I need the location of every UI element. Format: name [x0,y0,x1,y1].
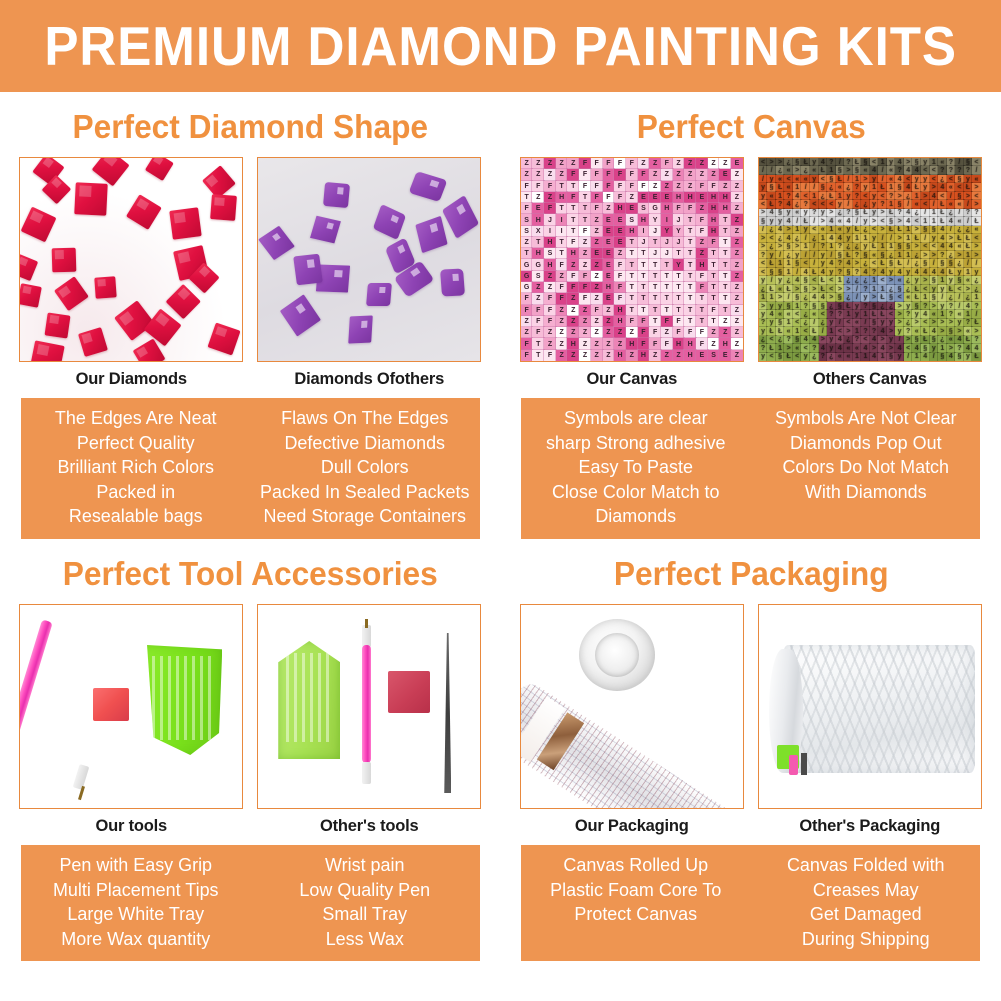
canvas-symbol-cell: / [921,234,930,242]
canvas-symbol-cell: H [708,203,720,214]
canvas-symbol-cell: y [810,175,819,183]
canvas-symbol-cell: E [603,214,615,225]
foam-core-cap-inner-icon [595,633,639,677]
canvas-symbol-cell: ? [947,158,956,166]
canvas-symbol-cell: Z [521,327,533,338]
canvas-symbol-cell: ¿ [861,276,870,284]
infographic-page: PREMIUM DIAMOND PAINTING KITS Perfect Di… [0,0,1001,1001]
canvas-symbol-cell: Z [556,158,568,169]
canvas-symbol-cell: T [684,271,696,282]
canvas-symbol-cell: T [638,305,650,316]
canvas-symbol-cell: 4 [912,166,921,174]
canvas-symbol-cell: Z [521,158,533,169]
canvas-symbol-cell: S [532,271,544,282]
canvas-symbol-cell: / [767,166,776,174]
canvas-symbol-cell: ? [870,327,879,335]
pen-metal-tip-icon [362,625,371,647]
canvas-symbol-cell: E [614,226,626,237]
canvas-symbol-cell: E [591,248,603,259]
canvas-symbol-cell: Z [579,338,591,349]
notes-packaging: Canvas Rolled UpPlastic Foam Core ToProt… [521,845,980,961]
purple-deformed-drills-photo [257,157,481,362]
canvas-symbol-cell: ¿ [801,310,810,318]
canvas-symbol-cell: ? [904,327,913,335]
canvas-symbol-cell: T [684,305,696,316]
purple-drill-icon [373,204,406,240]
canvas-symbol-cell: Ł [844,251,853,259]
canvas-symbol-cell: 1 [827,327,836,335]
canvas-symbol-cell: y [776,302,785,310]
canvas-symbol-cell: J [661,237,673,248]
canvas-symbol-cell: < [793,319,802,327]
canvas-symbol-cell: F [708,237,720,248]
canvas-symbol-cell: 1 [904,226,913,234]
canvas-symbol-cell: T [649,293,661,304]
canvas-symbol-cell: > [810,285,819,293]
canvas-symbol-cell: > [819,336,828,344]
canvas-symbol-cell: § [895,285,904,293]
canvas-symbol-cell: ¿ [844,293,853,301]
canvas-symbol-cell: ? [836,243,845,251]
canvas-symbol-cell: 1 [964,310,973,318]
canvas-symbol-grid: ZZZZZFFFFFZZFZZZZZEZZZZFFFFFFFZZZZZZEZFF… [521,158,743,361]
canvas-symbol-cell: § [955,192,964,200]
purple-drill-icon [258,226,294,260]
canvas-symbol-cell: 4 [938,243,947,251]
canvas-symbol-cell: 1 [784,259,793,267]
canvas-symbol-cell: y [947,276,956,284]
canvas-symbol-cell: ¿ [810,234,819,242]
canvas-symbol-cell: « [836,183,845,191]
note-line: Large White Tray [27,902,244,927]
canvas-symbol-cell: T [626,237,638,248]
canvas-symbol-cell: F [579,271,591,282]
canvas-symbol-cell: Z [731,203,743,214]
canvas-symbol-cell: ¿ [938,175,947,183]
canvas-symbol-cell: > [921,276,930,284]
canvas-symbol-cell: > [955,251,964,259]
canvas-symbol-cell: y [767,319,776,327]
canvas-symbol-cell: 4 [895,268,904,276]
canvas-symbol-cell: > [844,327,853,335]
section-title-canvas: Perfect Canvas [511,92,991,157]
canvas-symbol-cell: Ł [912,293,921,301]
canvas-symbol-cell: 4 [947,217,956,225]
canvas-symbol-cell: > [759,209,768,217]
canvas-symbol-cell: ¿ [853,276,862,284]
canvas-symbol-cell: 4 [870,353,879,361]
canvas-symbol-cell: T [684,226,696,237]
canvas-symbol-cell: Z [731,338,743,349]
canvas-symbol-cell: « [836,353,845,361]
canvas-symbol-cell: > [759,302,768,310]
canvas-symbol-cell: T [684,214,696,225]
canvas-symbol-cell: Z [696,158,708,169]
canvas-symbol-cell: « [955,310,964,318]
canvas-symbol-cell: § [819,302,828,310]
canvas-symbol-cell: H [567,338,579,349]
image-pair-tools: Our tools Other's tools [0,604,501,836]
canvas-symbol-cell: ¿ [844,276,853,284]
canvas-symbol-cell: T [684,248,696,259]
canvas-symbol-cell: / [878,175,887,183]
canvas-symbol-cell: « [972,226,981,234]
canvas-symbol-cell: > [887,344,896,352]
canvas-symbol-cell: Ł [955,234,964,242]
canvas-symbol-cell: y [912,175,921,183]
caption-our-diamonds: Our Diamonds [19,362,243,389]
canvas-symbol-cell: F [614,158,626,169]
page-header: PREMIUM DIAMOND PAINTING KITS [0,0,1001,92]
canvas-symbol-cell: ? [861,285,870,293]
canvas-symbol-cell: y [930,234,939,242]
canvas-symbol-cell: ? [801,200,810,208]
canvas-symbol-cell: > [955,327,964,335]
canvas-symbol-cell: H [684,338,696,349]
canvas-symbol-cell: 1 [912,192,921,200]
canvas-symbol-cell: Z [567,293,579,304]
canvas-symbol-cell: S [708,350,720,361]
canvas-symbol-cell: < [921,243,930,251]
canvas-symbol-cell: Z [579,259,591,270]
canvas-symbol-cell: > [878,209,887,217]
canvas-symbol-cell: 1 [759,293,768,301]
canvas-symbol-cell: y [870,192,879,200]
canvas-symbol-cell: < [836,327,845,335]
notes-others-diamond-shape: Flaws On The EdgesDefective DiamondsDull… [254,406,477,529]
canvas-symbol-cell: Z [719,316,731,327]
canvas-symbol-cell: / [972,310,981,318]
canvas-symbol-cell: § [801,285,810,293]
canvas-symbol-cell: Z [661,181,673,192]
canvas-symbol-cell: ? [972,336,981,344]
canvas-symbol-cell: y [887,319,896,327]
caption-our-canvas: Our Canvas [520,362,744,389]
purple-drill-icon [408,171,447,202]
canvas-symbol-cell: « [767,192,776,200]
canvas-symbol-cell: < [810,200,819,208]
canvas-symbol-cell: T [673,282,685,293]
canvas-symbol-cell: > [912,319,921,327]
note-line: More Wax quantity [27,927,244,952]
canvas-symbol-cell: Ł [784,353,793,361]
canvas-symbol-cell: ¿ [793,234,802,242]
canvas-symbol-cell: < [793,353,802,361]
canvas-symbol-cell: < [861,192,870,200]
canvas-symbol-cell: F [614,259,626,270]
canvas-symbol-cell: Ł [827,192,836,200]
canvas-symbol-cell: Z [731,192,743,203]
purple-drill-icon [440,268,465,296]
canvas-symbol-cell: ¿ [827,353,836,361]
canvas-symbol-cell: F [626,158,638,169]
canvas-symbol-cell: I [556,214,568,225]
cell-other-packaging: Other's Packaging [758,604,982,836]
canvas-symbol-cell: > [895,310,904,318]
canvas-symbol-cell: > [972,183,981,191]
canvas-symbol-cell: T [626,271,638,282]
canvas-symbol-cell: T [719,271,731,282]
canvas-symbol-cell: T [649,259,661,270]
canvas-symbol-cell: T [684,316,696,327]
canvas-symbol-cell: F [626,181,638,192]
canvas-symbol-cell: 4 [784,234,793,242]
canvas-symbol-cell: F [684,327,696,338]
section-title-diamond-shape: Perfect Diamond Shape [10,92,490,157]
canvas-symbol-cell: Ł [784,285,793,293]
canvas-symbol-cell: § [955,175,964,183]
canvas-symbol-cell: Z [532,192,544,203]
canvas-symbol-cell: ¿ [819,319,828,327]
section-title-packaging: Perfect Packaging [511,539,991,604]
canvas-symbol-cell: ? [870,268,879,276]
canvas-symbol-cell: T [567,203,579,214]
canvas-symbol-cell: F [521,350,533,361]
canvas-symbol-cell: H [684,350,696,361]
canvas-symbol-cell: / [861,319,870,327]
canvas-symbol-cell: < [878,276,887,284]
canvas-symbol-cell: / [964,217,973,225]
canvas-symbol-cell: T [719,214,731,225]
canvas-symbol-cell: Z [708,327,720,338]
canvas-symbol-cell: ¿ [853,243,862,251]
canvas-symbol-cell: 4 [895,344,904,352]
notes-diamond-shape: The Edges Are NeatPerfect QualityBrillia… [21,398,480,539]
canvas-symbol-cell: > [853,259,862,267]
note-line: Canvas Folded with [757,853,974,878]
canvas-symbol-cell: 4 [827,217,836,225]
canvas-symbol-cell: ? [904,310,913,318]
canvas-symbol-cell: F [661,158,673,169]
canvas-symbol-cell: 1 [861,234,870,242]
canvas-symbol-cell: T [708,282,720,293]
canvas-symbol-cell: Z [544,169,556,180]
canvas-symbol-cell: F [614,192,626,203]
note-line: Easy To Paste [528,455,745,480]
canvas-symbol-cell: T [719,305,731,316]
canvas-symbol-cell: F [591,158,603,169]
canvas-symbol-cell: ¿ [904,319,913,327]
canvas-symbol-cell: F [708,181,720,192]
canvas-symbol-cell: Z [731,226,743,237]
canvas-symbol-cell: < [827,285,836,293]
canvas-symbol-cell: ¿ [819,192,828,200]
red-drill-icon [208,323,241,356]
canvas-symbol-cell: < [801,192,810,200]
canvas-symbol-cell: ¿ [827,183,836,191]
canvas-symbol-cell: < [810,276,819,284]
canvas-symbol-cell: § [947,327,956,335]
canvas-symbol-cell: ¿ [964,293,973,301]
canvas-symbol-cell: F [556,293,568,304]
canvas-symbol-cell: Z [556,316,568,327]
note-line: Flaws On The Edges [257,406,474,431]
canvas-symbol-cell: > [938,319,947,327]
canvas-symbol-cell: Z [684,181,696,192]
canvas-symbol-cell: § [853,166,862,174]
canvas-symbol-cell: > [878,226,887,234]
canvas-symbol-cell: « [861,166,870,174]
canvas-symbol-cell: Ł [895,259,904,267]
canvas-symbol-cell: Z [544,192,556,203]
canvas-symbol-cell: H [544,259,556,270]
canvas-symbol-cell: ¿ [912,259,921,267]
canvas-symbol-cell: < [759,259,768,267]
canvas-symbol-cell: / [810,183,819,191]
canvas-symbol-cell: F [626,316,638,327]
canvas-symbol-cell: 1 [861,353,870,361]
purple-drill-icon [310,215,341,242]
canvas-symbol-cell: § [912,336,921,344]
canvas-symbol-cell: T [649,237,661,248]
canvas-symbol-cell: J [544,214,556,225]
canvas-symbol-cell: « [819,226,828,234]
canvas-symbol-cell: 1 [921,217,930,225]
canvas-tube-icon [520,679,737,809]
canvas-symbol-cell: Z [719,181,731,192]
note-line: Pen with Easy Grip [27,853,244,878]
canvas-symbol-cell: Ł [947,285,956,293]
canvas-symbol-cell: ? [853,251,862,259]
canvas-symbol-cell: T [638,259,650,270]
canvas-symbol-cell: < [819,310,828,318]
canvas-symbol-cell: Ł [767,200,776,208]
canvas-symbol-cell: § [930,336,939,344]
canvas-symbol-cell: § [870,319,879,327]
canvas-symbol-cell: y [836,200,845,208]
canvas-symbol-cell: > [947,234,956,242]
canvas-symbol-cell: T [532,338,544,349]
canvas-symbol-cell: y [776,217,785,225]
canvas-symbol-cell: Z [731,169,743,180]
canvas-symbol-cell: T [673,271,685,282]
canvas-symbol-cell: Z [579,237,591,248]
canvas-symbol-cell: 1 [767,293,776,301]
canvas-symbol-cell: / [955,158,964,166]
canvas-symbol-cell: Ł [878,310,887,318]
canvas-symbol-cell: Z [638,158,650,169]
canvas-symbol-cell: H [532,248,544,259]
canvas-symbol-cell: / [955,209,964,217]
canvas-symbol-cell: / [793,217,802,225]
canvas-symbol-cell: I [556,226,568,237]
canvas-symbol-cell: > [870,344,879,352]
canvas-symbol-cell: ¿ [767,243,776,251]
canvas-symbol-cell: 4 [844,217,853,225]
canvas-symbol-cell: F [591,305,603,316]
canvas-symbol-cell: Ł [947,268,956,276]
canvas-symbol-cell: « [895,276,904,284]
canvas-symbol-cell: F [591,169,603,180]
canvas-symbol-cell: T [626,293,638,304]
section-row-1: Perfect Diamond Shape Our Diamonds Diamo… [0,92,1001,539]
canvas-symbol-cell: y [861,183,870,191]
canvas-symbol-cell: ? [853,336,862,344]
canvas-symbol-cell: E [638,192,650,203]
canvas-symbol-cell: 4 [912,344,921,352]
canvas-symbol-cell: § [964,158,973,166]
canvas-symbol-cell: § [904,243,913,251]
canvas-symbol-cell: E [603,293,615,304]
canvas-symbol-cell: y [895,353,904,361]
canvas-symbol-cell: y [759,276,768,284]
canvas-symbol-cell: Y [649,214,661,225]
canvas-symbol-cell: T [626,305,638,316]
canvas-symbol-cell: « [955,200,964,208]
caption-other-diamonds: Diamonds Ofothers [257,362,481,389]
canvas-symbol-cell: / [801,251,810,259]
canvas-symbol-cell: ¿ [810,353,819,361]
pink-symbol-canvas-photo: ZZZZZFFFFFZZFZZZZZEZZZZFFFFFFFZZZZZZEZFF… [520,157,744,362]
canvas-symbol-cell: F [544,181,556,192]
canvas-symbol-cell: 4 [895,158,904,166]
canvas-symbol-cell: F [603,158,615,169]
caption-other-tools: Other's tools [257,809,481,836]
canvas-symbol-cell: 1 [904,234,913,242]
canvas-symbol-cell: F [591,181,603,192]
canvas-symbol-cell: T [719,226,731,237]
canvas-symbol-cell: S [638,203,650,214]
canvas-symbol-cell: Z [567,327,579,338]
canvas-symbol-cell: 4 [827,259,836,267]
canvas-symbol-cell: 1 [878,285,887,293]
canvas-symbol-cell: ? [887,192,896,200]
canvas-symbol-cell: « [972,175,981,183]
canvas-symbol-cell: Z [532,169,544,180]
canvas-symbol-cell: ¿ [861,226,870,234]
canvas-symbol-cell: Z [579,316,591,327]
canvas-symbol-cell: ? [810,344,819,352]
canvas-symbol-cell: § [938,259,947,267]
canvas-symbol-cell: Z [731,327,743,338]
notes-tools: Pen with Easy GripMulti Placement TipsLa… [21,845,480,961]
red-drill-icon [78,327,108,357]
canvas-symbol-cell: y [767,302,776,310]
canvas-symbol-cell: Ł [964,183,973,191]
canvas-symbol-cell: y [964,353,973,361]
note-line: Symbols are clear [528,406,745,431]
canvas-symbol-cell: F [521,203,533,214]
canvas-symbol-cell: Z [719,327,731,338]
canvas-symbol-cell: H [661,203,673,214]
canvas-symbol-cell: y [870,209,879,217]
canvas-symbol-cell: H [696,259,708,270]
canvas-symbol-cell: 4 [930,268,939,276]
canvas-symbol-cell: Ł [810,327,819,335]
canvas-symbol-cell: « [844,344,853,352]
canvas-symbol-cell: Z [649,158,661,169]
canvas-symbol-cell: < [767,234,776,242]
canvas-symbol-cell: H [708,226,720,237]
canvas-symbol-cell: Z [731,181,743,192]
canvas-symbol-cell: 4 [810,293,819,301]
canvas-symbol-cell: > [895,319,904,327]
canvas-symbol-cell: y [964,175,973,183]
canvas-symbol-cell: > [930,251,939,259]
bubble-mailer-bag-icon [783,645,975,773]
canvas-symbol-cell: § [921,344,930,352]
canvas-symbol-cell: S [521,214,533,225]
canvas-symbol-cell: § [784,243,793,251]
canvas-symbol-cell: § [836,293,845,301]
canvas-symbol-cell: 1 [793,183,802,191]
canvas-symbol-cell: Z [731,271,743,282]
canvas-symbol-cell: < [767,353,776,361]
canvas-symbol-cell: F [579,158,591,169]
canvas-symbol-cell: > [904,336,913,344]
canvas-symbol-cell: § [844,268,853,276]
cell-other-diamonds: Diamonds Ofothers [257,157,481,389]
